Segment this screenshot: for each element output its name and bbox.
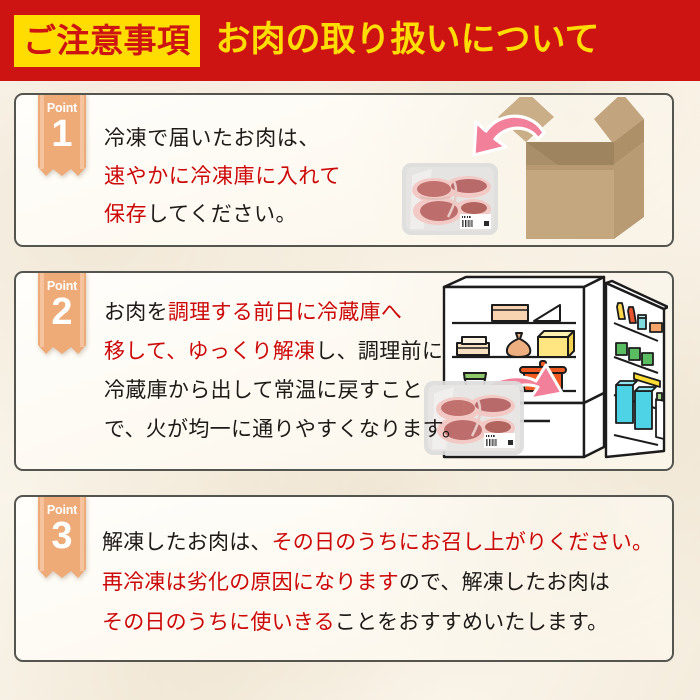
point-2-seg-4-1: で、火が均一に通りやすくなります。: [104, 417, 463, 441]
point-1-seg-2-1: 速やかに冷凍庫に入れて: [104, 164, 341, 188]
meat-package-tray: [402, 163, 498, 235]
point-1-seg-3-2: してください。: [147, 202, 297, 226]
point-ribbon-1-number: 1: [38, 115, 86, 153]
door-item-orange-box: [650, 323, 662, 332]
point-1-line-2: 速やかに冷凍庫に入れて: [104, 157, 341, 195]
point-card-1-inner: Point 1 冷凍で届いたお肉は、 速やかに冷凍庫に入れて 保存してください。: [16, 95, 672, 245]
point-3-text: 解凍したお肉は、その日のうちにお召し上がりください。 再冷凍は劣化の原因になりま…: [102, 522, 653, 642]
point-ribbon-2-number: 2: [38, 293, 86, 331]
point-2-seg-1-2: 調理する前日に冷蔵庫へ: [168, 300, 402, 324]
box-front-panel: [526, 165, 614, 239]
box-front-top-edge: [526, 165, 614, 170]
header-banner: ご注意事項 お肉の取り扱いについて: [0, 0, 700, 81]
point-3-seg-1-1: 解凍したお肉は、: [102, 530, 272, 554]
point-1-seg-3-1: 保存: [104, 202, 147, 226]
point-3-seg-3-2: ことをおすすめいたします。: [335, 610, 609, 634]
fridge-item-peach-box: [492, 305, 528, 321]
point-3-seg-2-2: ので、解凍したお肉は: [399, 570, 610, 594]
point-2-line-1: お肉を調理する前日に冷蔵庫へ: [104, 293, 463, 332]
point-card-3-inner: Point 3 解凍したお肉は、その日のうちにお召し上がりください。 再冷凍は劣…: [16, 497, 672, 660]
point-3-seg-3-1: その日のうちに使いきる: [102, 610, 335, 634]
point-ribbon-1: Point 1: [38, 95, 86, 176]
banner-title: お肉の取り扱いについて: [216, 23, 600, 58]
banner-caution-tag: ご注意事項: [14, 15, 200, 67]
point-card-3: Point 3 解凍したお肉は、その日のうちにお召し上がりください。 再冷凍は劣…: [14, 495, 674, 662]
point-card-2-inner: Point 2 お肉を調理する前日に冷蔵庫へ 移して、ゆっくり解凍し、調理前に …: [16, 273, 672, 469]
point-ribbon-3: Point 3: [38, 497, 86, 578]
point-2-seg-1-1: お肉を: [104, 300, 168, 324]
point-1-text: 冷凍で届いたお肉は、 速やかに冷凍庫に入れて 保存してください。: [104, 119, 341, 233]
point-3-line-1: 解凍したお肉は、その日のうちにお召し上がりください。: [102, 522, 653, 562]
point-card-2: Point 2 お肉を調理する前日に冷蔵庫へ 移して、ゆっくり解凍し、調理前に …: [14, 271, 674, 471]
point-3-line-3: その日のうちに使いきることをおすすめいたします。: [102, 602, 653, 642]
point-2-text: お肉を調理する前日に冷蔵庫へ 移して、ゆっくり解凍し、調理前に 冷蔵庫から出して…: [104, 293, 463, 449]
illustration-cardboard-box-with-meat-tray: [398, 97, 666, 243]
point-ribbon-2: Point 2: [38, 273, 86, 354]
point-2-line-4: で、火が均一に通りやすくなります。: [104, 410, 463, 449]
point-2-line-3: 冷蔵庫から出して常温に戻すこと: [104, 371, 463, 410]
fridge-item-tray-b: [462, 337, 486, 344]
point-2-seg-3-1: 冷蔵庫から出して常温に戻すこと: [104, 378, 423, 402]
door-item-green-packet-3: [642, 353, 653, 365]
door-item-green-packet-2: [629, 348, 640, 360]
point-2-line-2: 移して、ゆっくり解凍し、調理前に: [104, 332, 463, 371]
point-1-line-1: 冷凍で届いたお肉は、: [104, 119, 341, 157]
door-item-white-bottle: [656, 399, 664, 439]
point-ribbon-3-number: 3: [38, 517, 86, 555]
fridge-item-yellow-box: [538, 337, 568, 357]
door-item-green-packet-1: [616, 343, 627, 355]
point-3-line-2: 再冷凍は劣化の原因になりますので、解凍したお肉は: [102, 562, 653, 602]
door-item-milk-carton-2: [635, 391, 652, 429]
point-3-seg-2-1: 再冷凍は劣化の原因になります: [102, 570, 399, 594]
point-1-line-3: 保存してください。: [104, 195, 341, 233]
point-2-seg-2-2: し、調理前に: [315, 339, 443, 363]
point-card-1: Point 1 冷凍で届いたお肉は、 速やかに冷凍庫に入れて 保存してください。: [14, 93, 674, 247]
point-1-seg-1-1: 冷凍で届いたお肉は、: [104, 126, 320, 150]
point-2-seg-2-1: 移して、ゆっくり解凍: [104, 339, 315, 363]
door-item-milk-carton-1: [616, 385, 633, 423]
point-3-seg-1-2: その日のうちにお召し上がりください。: [272, 530, 654, 554]
